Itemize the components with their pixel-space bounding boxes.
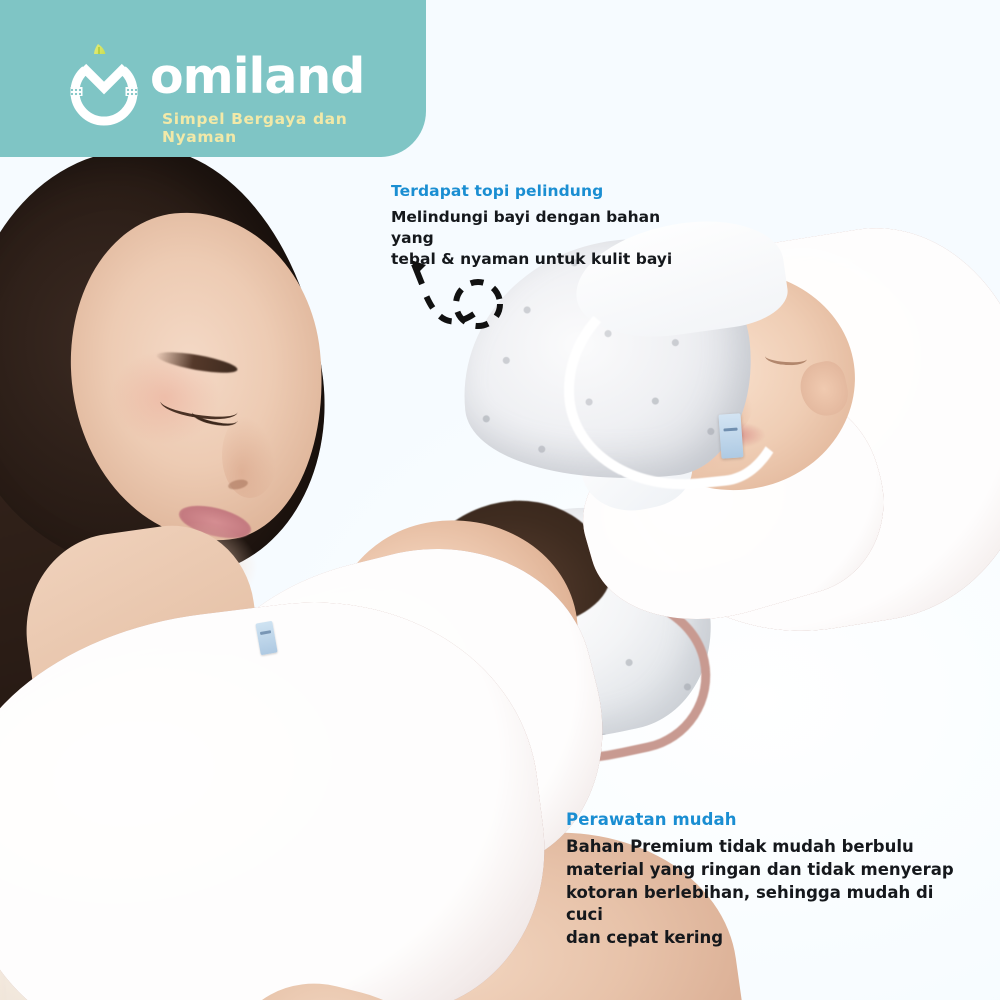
hood-annotation <box>395 248 535 363</box>
logo-hatch-left <box>71 87 83 96</box>
brand-tagline: Simpel Bergaya dan Nyaman <box>162 110 398 146</box>
callout-care-title: Perawatan mudah <box>566 810 966 829</box>
brand-logo: omiland Simpel Bergaya dan Nyaman <box>58 24 398 144</box>
logo-hatch-right <box>126 87 138 96</box>
product-photo <box>455 218 1000 638</box>
product-banner-canvas: Terdapat topi pelindung Melindungi bayi … <box>0 0 1000 1000</box>
callout-care: Perawatan mudah Bahan Premium tidak muda… <box>566 810 966 950</box>
brand-banner: omiland Simpel Bergaya dan Nyaman <box>0 0 426 157</box>
dashed-curved-arrow-icon <box>395 248 535 363</box>
leaf-tulip-circle-logo-icon <box>58 40 150 132</box>
callout-care-body: Bahan Premium tidak mudah berbulu materi… <box>566 836 966 950</box>
logo-mark <box>58 40 150 132</box>
mother-hand <box>211 965 455 1000</box>
callout-hood-title: Terdapat topi pelindung <box>391 182 691 200</box>
brand-name: omiland <box>150 52 364 101</box>
brand-tag <box>718 413 743 458</box>
dashed-arrow-path <box>423 288 474 322</box>
